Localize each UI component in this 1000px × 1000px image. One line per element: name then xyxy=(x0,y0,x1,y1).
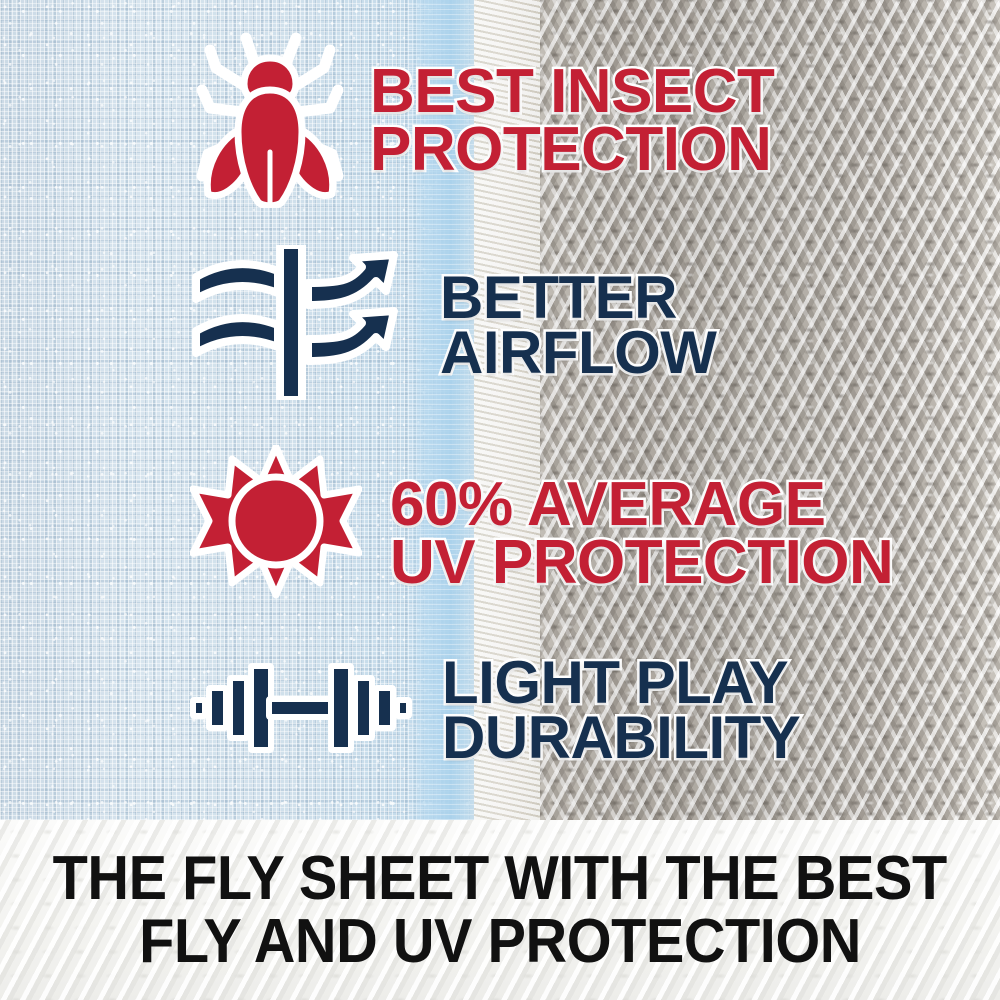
feature-row-durability: LIGHT PLAY DURABILITY xyxy=(190,655,800,765)
banner-line-1: THE FLY SHEET WITH THE BEST xyxy=(53,847,947,910)
feature-line: AIRFLOW xyxy=(440,325,716,380)
feature-label-durability: LIGHT PLAY DURABILITY xyxy=(442,655,800,765)
sun-icon xyxy=(190,445,362,622)
feature-line: BEST INSECT xyxy=(370,63,774,120)
airflow-arrows-icon xyxy=(190,245,406,405)
banner-line-2: FLY AND UV PROTECTION xyxy=(139,910,861,973)
product-feature-infographic: BEST INSECT PROTECTION xyxy=(0,0,1000,1000)
feature-line: BETTER xyxy=(440,270,716,325)
feature-line: LIGHT PLAY xyxy=(442,655,800,710)
feature-list: BEST INSECT PROTECTION xyxy=(0,0,1000,820)
feature-label-airflow: BETTER AIRFLOW xyxy=(440,270,716,380)
feature-line: UV PROTECTION xyxy=(390,534,893,591)
feature-row-airflow: BETTER AIRFLOW xyxy=(190,245,716,405)
feature-label-insect-protection: BEST INSECT PROTECTION xyxy=(370,63,774,177)
feature-line: 60% AVERAGE xyxy=(390,476,893,533)
fly-icon xyxy=(190,28,350,213)
dumbbell-icon xyxy=(190,660,412,761)
feature-row-insect-protection: BEST INSECT PROTECTION xyxy=(190,28,774,213)
bottom-tagline-banner: THE FLY SHEET WITH THE BEST FLY AND UV P… xyxy=(0,820,1000,1000)
feature-line: DURABILITY xyxy=(442,710,800,765)
feature-row-uv-protection: 60% AVERAGE UV PROTECTION xyxy=(190,445,893,622)
feature-line: PROTECTION xyxy=(370,121,774,178)
feature-label-uv-protection: 60% AVERAGE UV PROTECTION xyxy=(390,476,893,590)
